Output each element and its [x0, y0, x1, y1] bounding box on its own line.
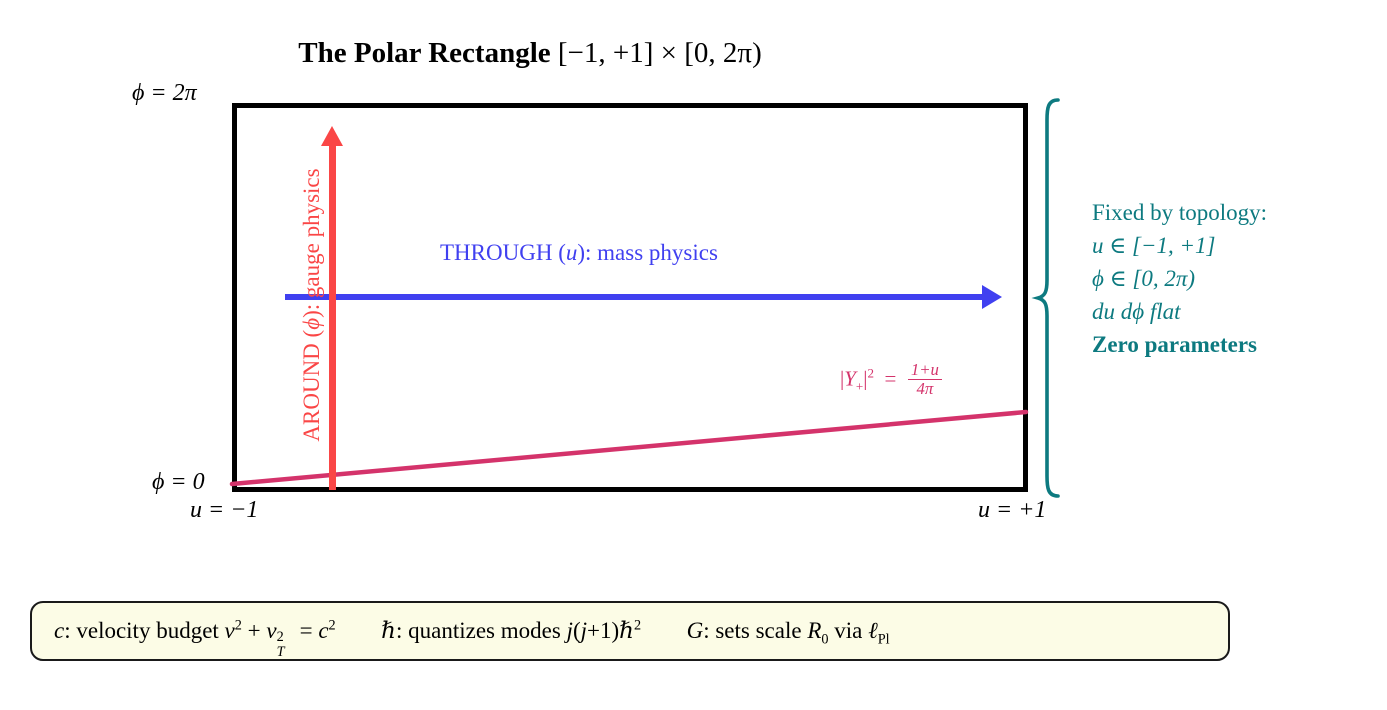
page-title: The Polar Rectangle [−1, +1] × [0, 2π)	[0, 36, 1060, 71]
topology-text-block: Fixed by topology: u ∈ [−1, +1] ϕ ∈ [0, …	[1092, 196, 1267, 361]
topology-line-measure: du dϕ flat	[1092, 295, 1267, 328]
through-arrow-head-icon	[982, 285, 1002, 309]
topology-emphasis: Zero parameters	[1092, 328, 1267, 361]
through-arrow-shaft	[285, 294, 985, 300]
constant-item-G: G: sets scale R0 via ℓPl	[687, 618, 890, 643]
density-numerator: 1+u	[908, 361, 942, 379]
axis-label-u-min: u = −1	[190, 497, 258, 524]
topology-heading: Fixed by topology:	[1092, 196, 1267, 229]
topology-line-phi: ϕ ∈ [0, 2π)	[1092, 262, 1267, 295]
topology-brace-icon	[1036, 98, 1070, 498]
around-arrow-head-icon	[321, 126, 343, 146]
topology-line-u: u ∈ [−1, +1]	[1092, 229, 1267, 262]
constant-item-hbar: ℏ: quantizes modes j(j+1)ℏ2	[381, 618, 641, 643]
axis-label-u-max: u = +1	[978, 497, 1046, 524]
constant-item-c: c: velocity budget v2 + vT2 = c2	[54, 618, 336, 643]
density-denominator: 4π	[908, 379, 942, 398]
through-arrow-label: THROUGH (u): mass physics	[440, 240, 718, 266]
page-title-domain: [−1, +1] × [0, 2π)	[558, 37, 762, 69]
axis-label-phi-min: ϕ = 0	[152, 469, 205, 496]
constants-summary-text: c: velocity budget v2 + vT2 = c2 ℏ: quan…	[32, 618, 890, 644]
constants-summary-box: c: velocity budget v2 + vT2 = c2 ℏ: quan…	[30, 601, 1230, 661]
around-arrow-label: AROUND (ϕ): gauge physics	[299, 168, 325, 441]
axis-label-phi-max: ϕ = 2π	[132, 80, 197, 107]
page-title-main: The Polar Rectangle	[298, 37, 550, 69]
around-arrow-shaft	[329, 142, 336, 490]
density-formula-label: |Y+|2 = 1+u 4π	[840, 362, 943, 399]
